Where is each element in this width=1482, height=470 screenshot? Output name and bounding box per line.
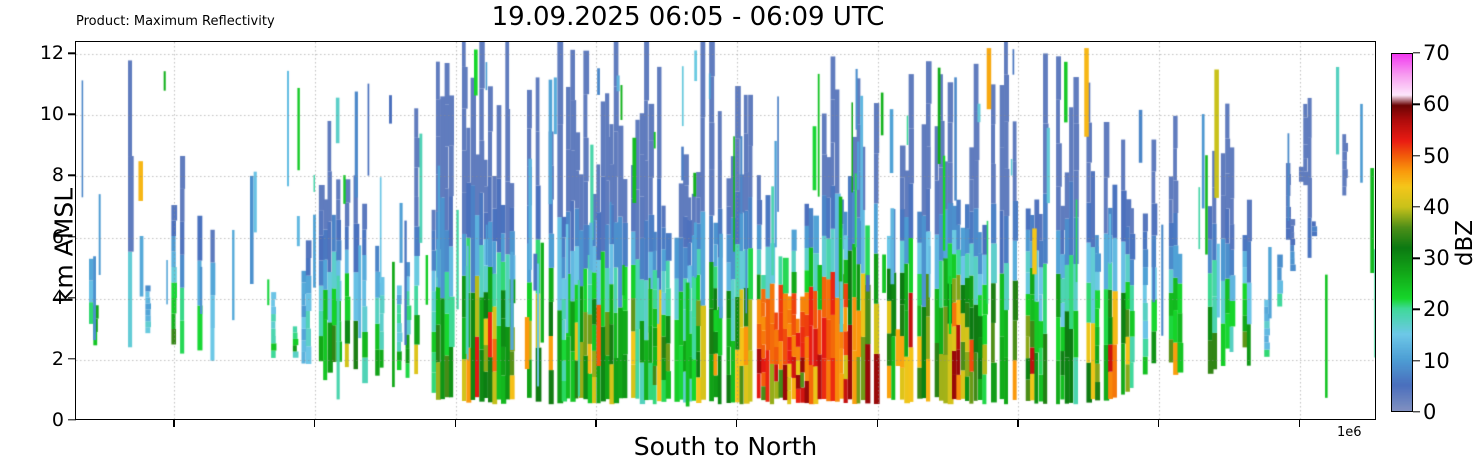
colorbar-tick-mark bbox=[1413, 257, 1420, 258]
colorbar bbox=[1391, 53, 1413, 412]
y-tick-mark bbox=[68, 358, 76, 359]
colorbar-gradient bbox=[1391, 53, 1413, 412]
colorbar-tick-label: 60 bbox=[1423, 92, 1450, 116]
x-tick-mark bbox=[736, 420, 737, 427]
colorbar-tick-mark bbox=[1413, 155, 1420, 156]
colorbar-tick-label: 50 bbox=[1423, 144, 1450, 168]
y-tick-label: 2 bbox=[16, 348, 64, 370]
y-tick-label: 0 bbox=[16, 409, 64, 431]
colorbar-tick-mark bbox=[1413, 360, 1420, 361]
x-tick-mark bbox=[455, 420, 456, 427]
y-tick-mark bbox=[68, 114, 76, 115]
colorbar-tick-label: 10 bbox=[1423, 349, 1450, 373]
colorbar-tick-label: 70 bbox=[1423, 41, 1450, 65]
colorbar-tick-mark bbox=[1413, 104, 1420, 105]
axis-decorations: 024681012 bbox=[0, 0, 1482, 470]
y-tick-label: 12 bbox=[16, 42, 64, 64]
y-tick-mark bbox=[68, 53, 76, 54]
x-tick-mark bbox=[173, 420, 174, 427]
x-tick-mark bbox=[314, 420, 315, 427]
colorbar-tick-mark bbox=[1413, 411, 1420, 412]
x-tick-mark bbox=[1299, 420, 1300, 427]
x-axis-offset-text: 1e6 bbox=[1337, 425, 1362, 440]
x-tick-mark bbox=[1017, 420, 1018, 427]
colorbar-tick-mark bbox=[1413, 309, 1420, 310]
y-tick-mark bbox=[68, 419, 76, 420]
y-axis-label: km AMSL bbox=[50, 146, 79, 346]
x-axis-label: South to North bbox=[75, 432, 1376, 461]
colorbar-tick-mark bbox=[1413, 52, 1420, 53]
x-tick-mark bbox=[1158, 420, 1159, 427]
x-tick-mark bbox=[595, 420, 596, 427]
colorbar-tick-label: 0 bbox=[1423, 400, 1436, 424]
y-tick-label: 10 bbox=[16, 103, 64, 125]
colorbar-tick-label: 20 bbox=[1423, 297, 1450, 321]
radar-cross-section-figure: Product: Maximum Reflectivity 19.09.2025… bbox=[0, 0, 1482, 470]
colorbar-label: dBZ bbox=[1452, 183, 1478, 303]
colorbar-tick-label: 40 bbox=[1423, 195, 1450, 219]
x-tick-mark bbox=[877, 420, 878, 427]
colorbar-tick-mark bbox=[1413, 206, 1420, 207]
colorbar-tick-label: 30 bbox=[1423, 246, 1450, 270]
